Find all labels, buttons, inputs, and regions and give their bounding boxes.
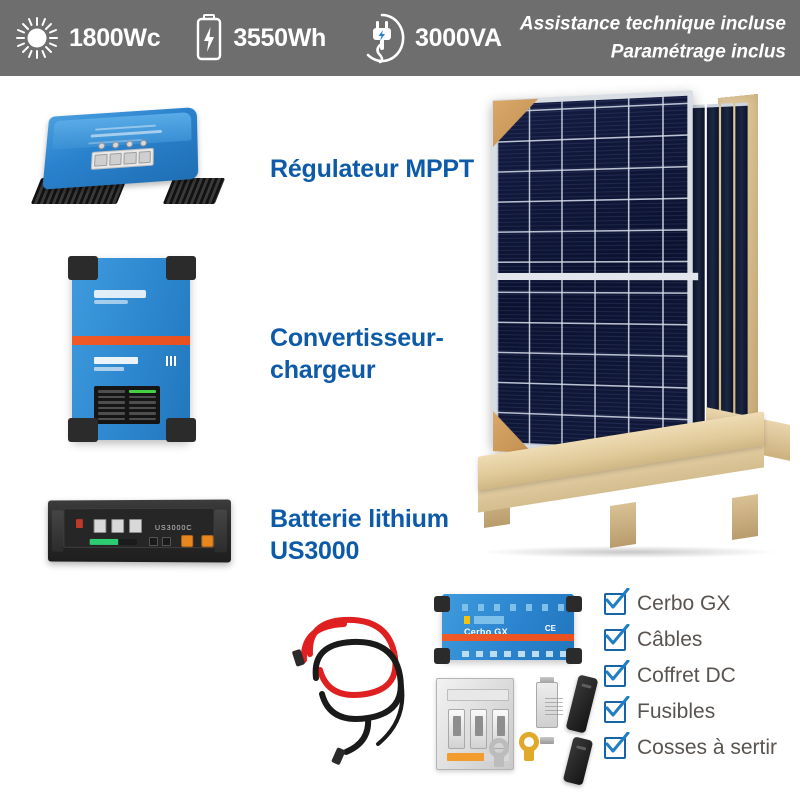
solar-panels-on-pallet-image [470,88,800,578]
checkbox-checked-icon [604,593,626,615]
checklist-label: Coffret DC [637,664,736,688]
corner-protector-top-left [493,99,538,147]
battery-port-2 [162,537,171,546]
mppt-body [42,107,198,190]
spec-inverter-power: 3000VA [358,0,502,76]
mc4-connector-lower [563,736,594,785]
inverter-corner-top-left [68,256,98,280]
pallet-foot-middle [610,502,636,548]
solar-panel-center-busbar [497,273,698,280]
battery-rack-ear-left [52,510,64,551]
inverter-model-text [94,357,138,364]
wooden-pallet [470,388,800,568]
sun-icon [14,15,60,61]
checklist-label: Fusibles [637,700,715,724]
ce-mark-icon: CE [545,624,556,633]
inverter-orange-stripe [72,336,190,345]
spec-battery-value: 3550Wh [233,24,326,53]
checklist-item-coffret-dc: Coffret DC [604,658,796,694]
spec-inverter-value: 3000VA [415,24,502,53]
product-label-converter-line1: Convertisseur- [270,322,444,354]
mppt-heatsink-right [163,178,226,204]
cerbo-mount-top-right [566,596,582,612]
cerbo-bottom-ports [462,651,572,657]
mc4-connector-black [331,747,346,765]
assistance-text-block: Assistance technique incluse Paramétrage… [520,10,786,65]
battery-model-text: US3000C [155,525,193,532]
assistance-line-2: Paramétrage inclus [520,38,786,66]
checklist-item-cables: Câbles [604,622,796,658]
inverter-corner-top-right [166,256,196,280]
included-items-checklist: Cerbo GX Câbles Coffret DC [604,586,796,766]
inverter-body [72,258,190,440]
battery-rack-ear-right [215,510,227,553]
checklist-item-fusibles: Fusibles [604,694,796,730]
cerbo-orange-stripe [442,634,574,641]
solar-cables-image [282,608,432,776]
checklist-item-cosses-a-sertir: Cosses à sertir [604,730,796,766]
product-label-converter: Convertisseur- chargeur [270,322,444,386]
checkbox-checked-icon [604,629,626,651]
pallet-foot-right [732,494,758,540]
cerbo-mount-bottom-left [434,648,450,664]
product-label-mppt: Régulateur MPPT [270,153,474,185]
fuse-rating-text [545,697,563,715]
lithium-battery-image: US3000C [32,494,242,570]
battery-front-panel: US3000C [63,508,214,549]
battery-status-leds [90,539,137,545]
spec-solar-value: 1800Wc [69,24,160,53]
checklist-label: Cerbo GX [637,592,730,616]
dc-box-lever-2 [470,709,487,749]
cerbo-gx-device-image: Cerbo GX CE [428,588,588,670]
assistance-line-1: Assistance technique incluse [520,10,786,38]
qr-code-icon [166,356,176,366]
dc-box-lever-1 [448,709,465,749]
product-label-battery-line2: US3000 [270,535,449,567]
inverter-charger-image [62,252,202,446]
dc-box-header-strip [447,689,509,701]
mc4-connector-upper [566,674,599,733]
cerbo-top-ports [462,604,580,611]
checkbox-checked-icon [604,737,626,759]
checklist-label: Câbles [637,628,702,652]
product-label-battery-line1: Batterie lithium [270,503,449,535]
mppt-top-face [52,112,191,150]
battery-switch-1 [94,519,107,533]
battery-port-1 [149,537,158,546]
inverter-corner-bottom-right [166,418,196,442]
battery-switch-3 [129,519,142,533]
pallet-shadow [484,546,774,558]
battery-icon [194,14,224,62]
spec-battery-capacity: 3550Wh [194,0,326,76]
checkbox-checked-icon [604,665,626,687]
battery-power-button [76,519,83,528]
mppt-terminal-block [91,148,154,170]
spec-solar-power: 1800Wc [14,0,160,76]
spec-header-bar: 1800Wc 3550Wh [0,0,800,76]
battery-terminal-positive [181,535,193,547]
product-label-battery: Batterie lithium US3000 [270,503,449,567]
battery-chassis: US3000C [48,499,231,562]
fuse-body [536,682,558,728]
victron-logo-text [94,300,128,304]
mppt-charge-controller-image [28,104,224,208]
cerbo-status-leds [464,616,504,624]
product-label-converter-line2: chargeur [270,354,444,386]
inverter-corner-bottom-left [68,418,98,442]
checklist-item-cerbo-gx: Cerbo GX [604,586,796,622]
crimp-ring-terminal-silver [489,738,513,764]
checkbox-checked-icon [604,701,626,723]
cerbo-mount-bottom-right [566,648,582,664]
nh-fuse-image [530,678,564,740]
inverter-submodel-text [94,367,124,371]
battery-switch-2 [111,519,124,533]
cerbo-body: Cerbo GX CE [442,594,574,660]
victron-logo-mark [94,290,146,298]
inverter-led-panel [94,386,160,424]
plug-icon [358,12,406,64]
marketing-kit-infographic: 1800Wc 3550Wh [0,0,800,800]
battery-terminal-negative [201,535,213,547]
cerbo-mount-top-left [434,596,450,612]
crimp-ring-terminal-gold [519,732,545,762]
checklist-label: Cosses à sertir [637,736,777,760]
